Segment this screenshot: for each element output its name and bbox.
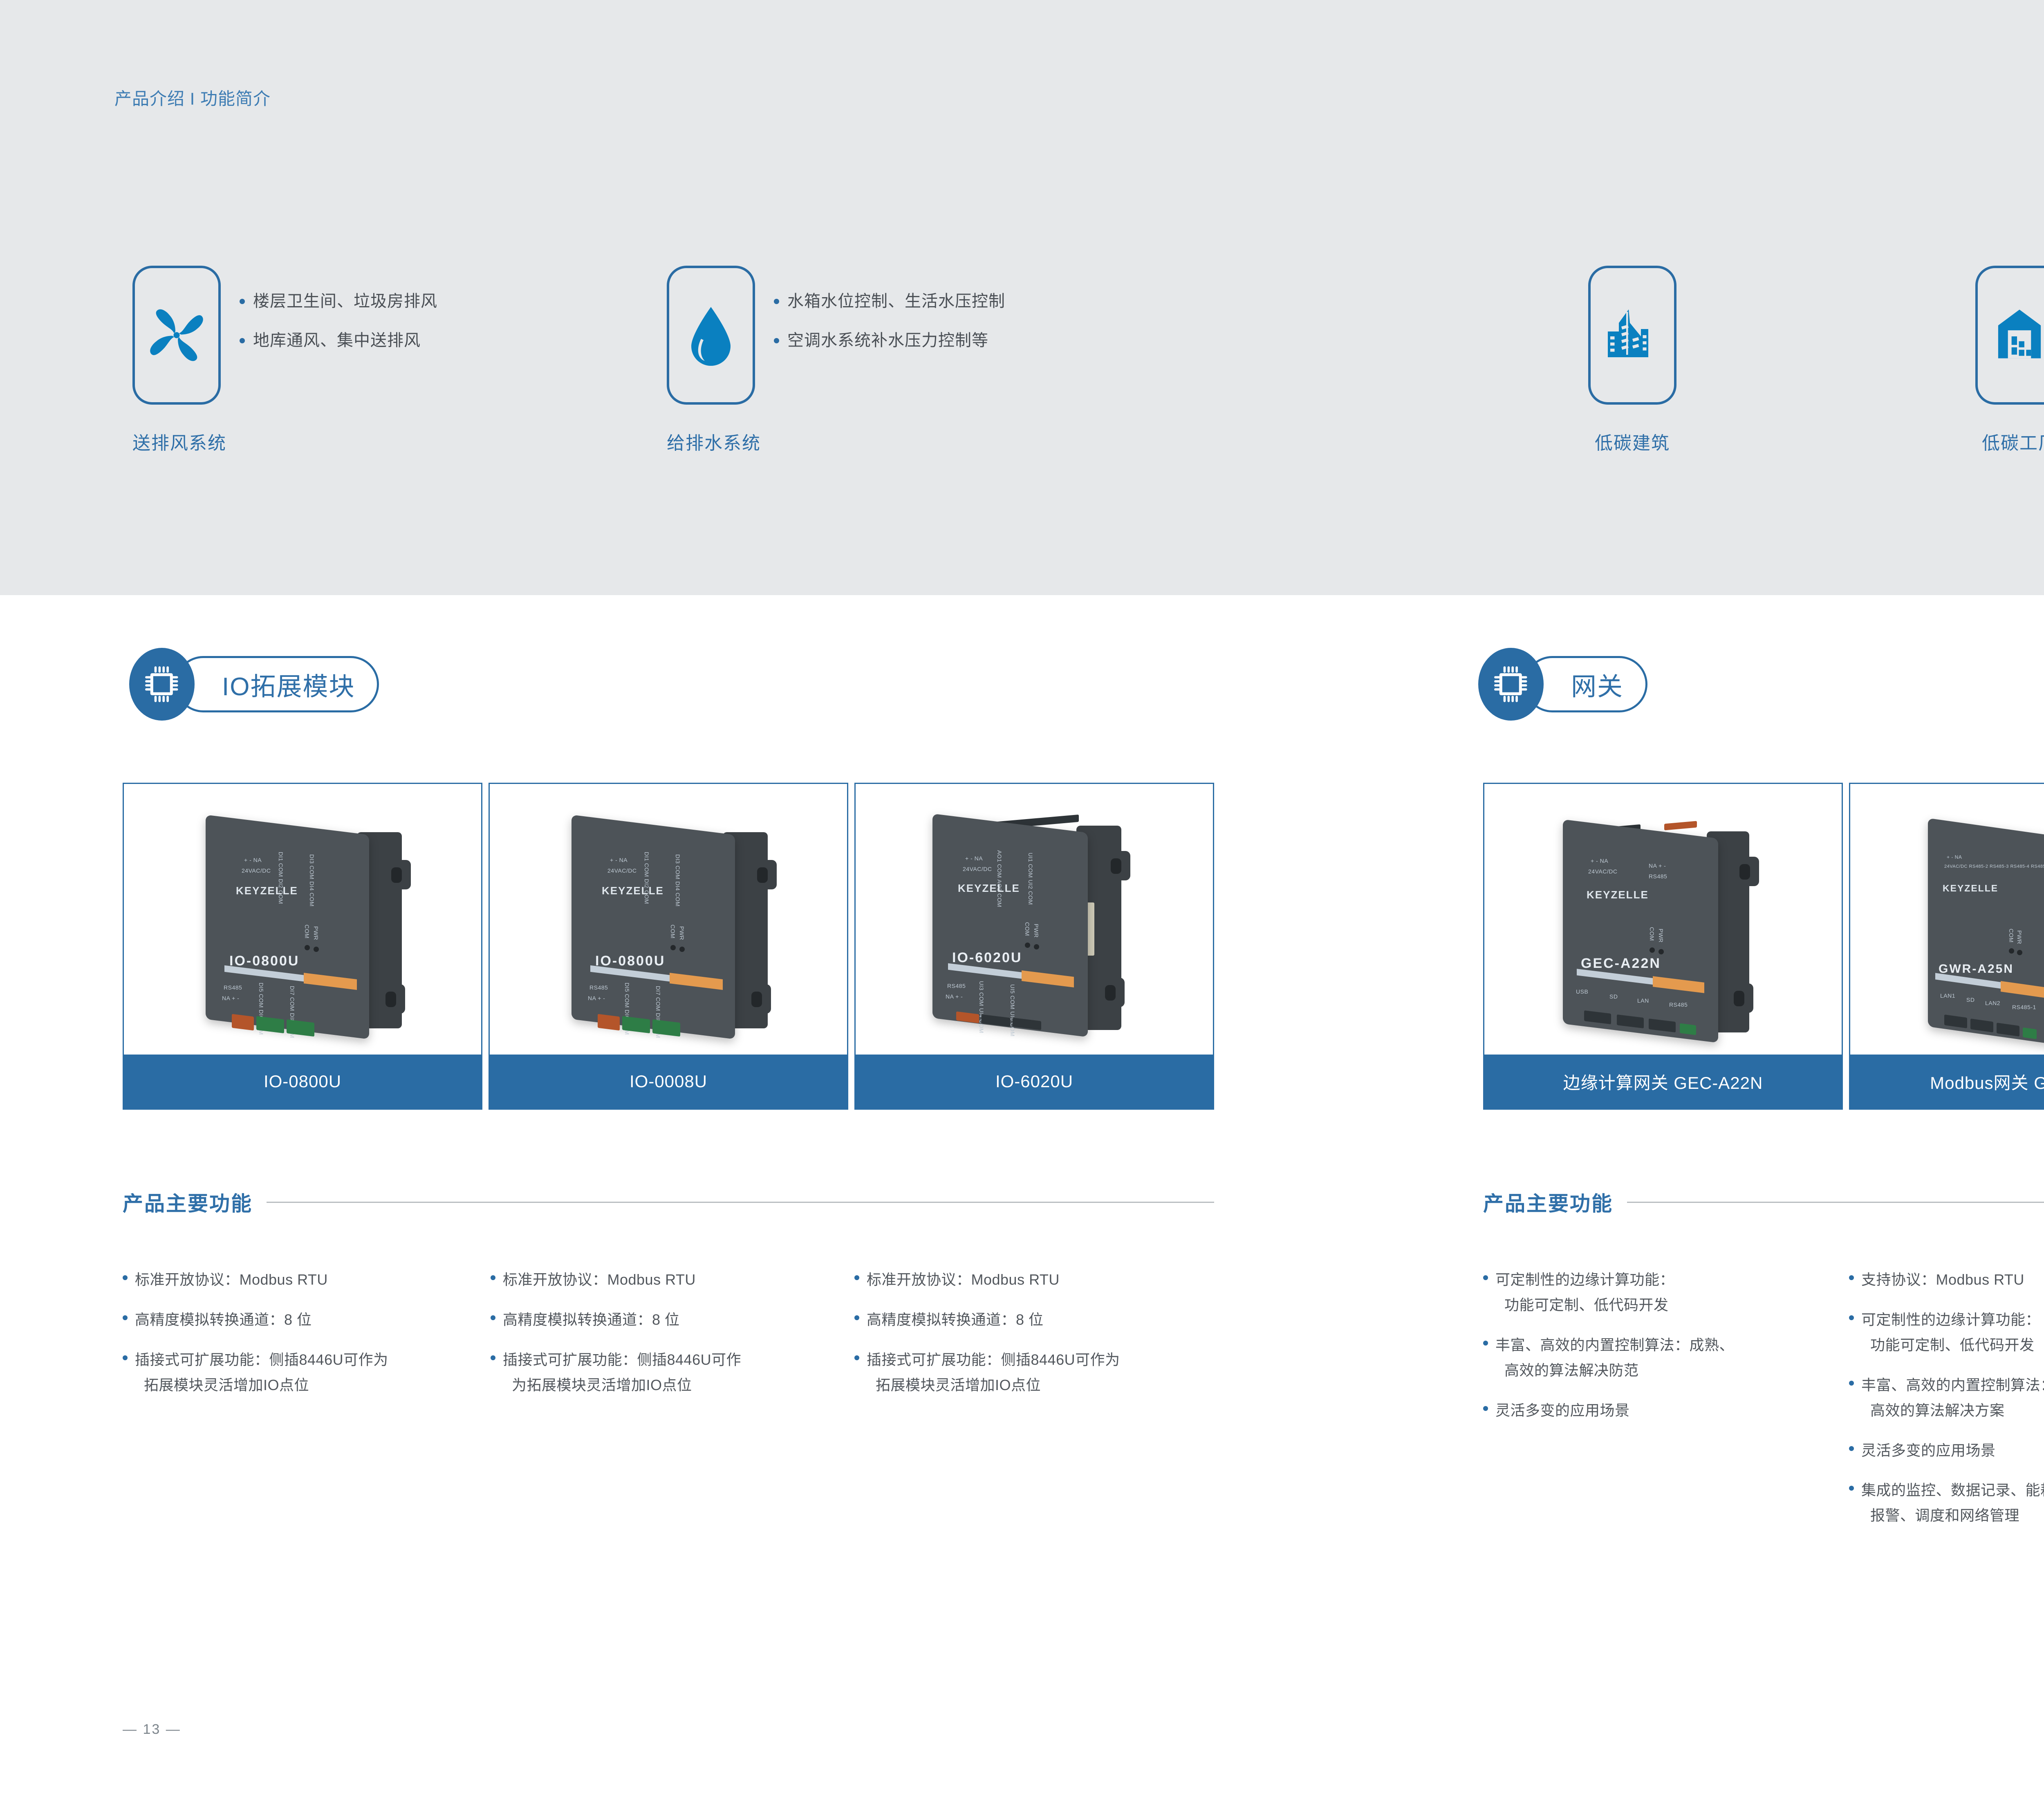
scene-caption: 低碳工厂	[1975, 428, 2044, 455]
bullet-dot-icon	[1849, 1315, 1854, 1320]
feature-item: 可定制性的边缘计算功能：功能可定制、低代码开发	[1483, 1267, 1843, 1318]
bullet-dot-icon	[854, 1315, 859, 1320]
feature-text: 丰富、高效的内置控制算法：成熟、高效的算法解决防范	[1495, 1332, 1734, 1383]
port-label: RS485-1	[2012, 1004, 2036, 1010]
feature-text: 插接式可扩展功能：侧插8446U可作为拓展模块灵活增加IO点位	[135, 1347, 388, 1398]
chip-badge	[129, 648, 195, 721]
bullet-dot-icon	[1849, 1275, 1854, 1280]
port-label: 24VAC/DC	[242, 867, 271, 874]
features-column: 标准开放协议：Modbus RTU高精度模拟转换通道：8 位插接式可扩展功能：侧…	[491, 1267, 858, 1413]
feature-item: 高精度模拟转换通道：8 位	[491, 1307, 858, 1332]
feature-text: 高精度模拟转换通道：8 位	[503, 1307, 680, 1332]
port-label: RS485	[1649, 873, 1667, 880]
feature-text: 标准开放协议：Modbus RTU	[503, 1267, 696, 1292]
features-column: 可定制性的边缘计算功能：功能可定制、低代码开发丰富、高效的内置控制算法：成熟、高…	[1483, 1267, 1843, 1438]
port-label: RS485	[224, 984, 242, 991]
feature-text: 可定制性的边缘计算功能：功能可定制、低代码开发	[1861, 1307, 2040, 1358]
scene-caption: 低碳建筑	[1588, 428, 1676, 455]
factory-icon-frame	[1975, 266, 2044, 405]
feature-text: 标准开放协议：Modbus RTU	[867, 1267, 1060, 1292]
channel-label: DI1 COM DI2 COM	[643, 852, 650, 876]
channel-label: DI3 COM DI4 COM	[675, 854, 681, 879]
port-label: SD	[1966, 996, 1975, 1003]
feature-text: 插接式可扩展功能：侧插8446U可作为拓展模块灵活增加IO点位	[867, 1347, 1120, 1398]
feature-item: 标准开放协议：Modbus RTU	[123, 1267, 491, 1292]
port-label: LAN	[1637, 997, 1649, 1004]
feature-item: 插接式可扩展功能：侧插8446U可作为拓展模块灵活增加IO点位	[123, 1347, 491, 1398]
fan-icon	[146, 305, 207, 366]
features-header-left: 产品主要功能	[123, 1187, 1214, 1217]
product-name: IO-6020U	[995, 1072, 1073, 1091]
application-block-water: 给排水系统 水箱水位控制、生活水压控制 空调水系统补水压力控制等	[667, 266, 755, 405]
bullet-item: 空调水系统补水压力控制等	[774, 330, 1005, 351]
product-image: + - NA 24VAC/DC DI1 COM DI2 COM DI3 COM …	[490, 784, 847, 1055]
bullet-text: 楼层卫生间、垃圾房排风	[253, 291, 437, 311]
bullet-dot-icon	[1849, 1486, 1854, 1491]
feature-item: 插接式可扩展功能：侧插8446U可作为拓展模块灵活增加IO点位	[854, 1347, 1222, 1398]
product-name: 边缘计算网关 GEC-A22N	[1563, 1069, 1763, 1094]
feature-text: 支持协议：Modbus RTU	[1861, 1267, 2024, 1292]
feature-item: 高精度模拟转换通道：8 位	[854, 1307, 1222, 1332]
product-card[interactable]: + - NA 24VAC/DC DI1 COM DI2 COM DI3 COM …	[489, 783, 848, 1110]
feature-text: 高精度模拟转换通道：8 位	[867, 1307, 1044, 1332]
section-title-label: IO拓展模块	[222, 666, 355, 703]
feature-text: 丰富、高效的内置控制算法：成熟、高效的算法解决方案	[1861, 1373, 2044, 1423]
channel-label: DI7 COM DI8 COM	[289, 986, 296, 1010]
port-label: RS485	[589, 984, 608, 991]
feature-item: 支持协议：Modbus RTU	[1849, 1267, 2044, 1292]
led-label: PWR	[1033, 924, 1040, 942]
bullet-dot-icon	[1483, 1275, 1488, 1280]
led-label: PWR	[1658, 929, 1664, 947]
bullet-text: 空调水系统补水压力控制等	[787, 330, 988, 351]
product-image: + - NA 24VAC/DC AO1 COM AO2 COM UI1 COM …	[856, 784, 1213, 1055]
port-label: 24VAC/DC RS485-2 RS485-3 RS485-4 RS485-5	[1944, 864, 2044, 869]
feature-text: 高精度模拟转换通道：8 位	[135, 1307, 312, 1332]
section-pill-body: IO拓展模块	[175, 656, 379, 712]
product-name: IO-0800U	[264, 1072, 341, 1091]
features-column: 标准开放协议：Modbus RTU高精度模拟转换通道：8 位插接式可扩展功能：侧…	[123, 1267, 491, 1413]
channel-label: UI3 COM UI4 COM	[978, 981, 985, 1005]
feature-text: 插接式可扩展功能：侧插8446U可作为拓展模块灵活增加IO点位	[503, 1347, 741, 1398]
feature-text: 集成的监控、数据记录、能耗计量、报警、调度和网络管理	[1861, 1478, 2044, 1528]
chip-icon	[144, 665, 179, 704]
brand-label: KEYZELLE	[1587, 889, 1649, 901]
feature-item: 灵活多变的应用场景	[1849, 1438, 2044, 1463]
port-label: + - NA	[1591, 858, 1608, 864]
bullet-dot-icon	[491, 1355, 495, 1360]
feature-item: 丰富、高效的内置控制算法：成熟、高效的算法解决防范	[1483, 1332, 1843, 1383]
port-label: LAN2	[1985, 1000, 2000, 1006]
product-image: + - NA 24VAC/DC DI1 COM DI2 COM DI3 COM …	[124, 784, 481, 1055]
chip-badge	[1478, 648, 1544, 721]
ventilation-icon-frame	[132, 266, 221, 405]
port-label: LAN1	[1940, 992, 1955, 999]
bullet-text: 地库通风、集中送排风	[253, 330, 421, 351]
product-name: Modbus网关 GWR-A25N	[1930, 1069, 2044, 1094]
port-label: NA + -	[588, 995, 605, 1001]
led-label: PWR	[2016, 930, 2023, 947]
water-bullets: 水箱水位控制、生活水压控制 空调水系统补水压力控制等	[774, 291, 1005, 351]
brochure-spread: 产品介绍 I 功能简介 产品介绍 I 功能简介 送排风系统	[0, 0, 2044, 1798]
feature-item: 灵活多变的应用场景	[1483, 1398, 1843, 1423]
led-label: PWR	[679, 926, 685, 944]
port-label: 24VAC/DC	[1588, 868, 1617, 875]
port-label: + - NA	[1947, 854, 1962, 860]
product-label-bar: IO-0800U	[124, 1055, 481, 1108]
led-label: COM	[304, 925, 310, 943]
feature-text: 可定制性的边缘计算功能：功能可定制、低代码开发	[1495, 1267, 1674, 1318]
bullet-dot-icon	[1849, 1446, 1854, 1451]
features-rule	[267, 1202, 1214, 1203]
feature-item: 标准开放协议：Modbus RTU	[854, 1267, 1222, 1292]
features-title: 产品主要功能	[123, 1187, 253, 1217]
bullet-dot-icon	[123, 1355, 128, 1360]
brand-label: KEYZELLE	[1943, 883, 1998, 894]
bullet-dot-icon	[491, 1315, 495, 1320]
port-label: + - NA	[610, 857, 628, 863]
features-title: 产品主要功能	[1483, 1187, 1613, 1217]
bullet-dot-icon	[1483, 1341, 1488, 1346]
channel-label: DI1 COM DI2 COM	[278, 852, 284, 876]
model-label: IO-6020U	[952, 950, 1022, 966]
product-label-bar: IO-0008U	[490, 1055, 847, 1108]
ventilation-bullets: 楼层卫生间、垃圾房排风 地库通风、集中送排风	[240, 291, 437, 351]
channel-label: DI5 COM DI6 COM	[624, 983, 630, 1007]
brand-label: KEYZELLE	[958, 882, 1020, 895]
port-label: NA + -	[946, 993, 963, 1000]
port-label: + - NA	[965, 855, 983, 862]
page-number-left: — 13 —	[123, 1722, 181, 1738]
feature-item: 插接式可扩展功能：侧插8446U可作为拓展模块灵活增加IO点位	[491, 1347, 858, 1398]
product-label-bar: Modbus网关 GWR-A25N	[1850, 1055, 2044, 1108]
feature-text: 标准开放协议：Modbus RTU	[135, 1267, 328, 1292]
application-caption: 给排水系统	[667, 428, 761, 455]
channel-label: UI5 COM UI6 COM	[1009, 984, 1016, 1009]
port-label: + - NA	[244, 857, 262, 863]
scene-block-building: 低碳建筑	[1588, 266, 1676, 405]
bullet-item: 地库通风、集中送排风	[240, 330, 437, 351]
running-head-left: 产品介绍 I 功能简介	[114, 85, 271, 110]
bullet-dot-icon	[854, 1275, 859, 1280]
port-label: USB	[1576, 988, 1588, 995]
feature-text: 灵活多变的应用场景	[1495, 1398, 1630, 1423]
feature-item: 高精度模拟转换通道：8 位	[123, 1307, 491, 1332]
bullet-dot-icon	[491, 1275, 495, 1280]
model-label: IO-0800U	[229, 953, 299, 969]
port-label: NA + -	[222, 995, 239, 1001]
features-header-right: 产品主要功能	[1483, 1187, 2044, 1217]
product-image: + - NA 24VAC/DC RS485-2 RS485-3 RS485-4 …	[1850, 784, 2044, 1055]
scene-block-factory: 低碳工厂	[1975, 266, 2044, 405]
channel-label: DI7 COM DI8 COM	[655, 986, 661, 1010]
application-caption: 送排风系统	[132, 428, 226, 455]
product-label-bar: IO-6020U	[856, 1055, 1213, 1108]
feature-text: 灵活多变的应用场景	[1861, 1438, 1996, 1463]
product-card[interactable]: + - NA 24VAC/DC AO1 COM AO2 COM UI1 COM …	[854, 783, 1214, 1110]
factory-icon	[1992, 305, 2044, 366]
channel-label: AO1 COM AO2 COM	[996, 850, 1003, 875]
application-row: 送排风系统 楼层卫生间、垃圾房排风 地库通风、集中送排风 给排水	[0, 245, 2044, 507]
channel-label: DI5 COM DI6 COM	[258, 983, 264, 1007]
bullet-dot-icon	[123, 1315, 128, 1320]
led-label: COM	[2008, 929, 2015, 946]
channel-label: UI1 COM UI2 COM	[1027, 853, 1034, 877]
feature-item: 标准开放协议：Modbus RTU	[491, 1267, 858, 1292]
section-title-label: 网关	[1571, 666, 1623, 703]
brand-label: KEYZELLE	[602, 884, 664, 897]
features-rule	[1627, 1202, 2044, 1203]
bullet-dot-icon	[1849, 1381, 1854, 1386]
building-icon-frame	[1588, 266, 1676, 405]
bullet-dot-icon	[123, 1275, 128, 1280]
application-block-ventilation: 送排风系统 楼层卫生间、垃圾房排风 地库通风、集中送排风	[132, 266, 221, 405]
bullet-dot-icon	[240, 338, 245, 343]
bullet-text: 水箱水位控制、生活水压控制	[787, 291, 1005, 311]
product-card[interactable]: + - NA 24VAC/DC DI1 COM DI2 COM DI3 COM …	[123, 783, 482, 1110]
bullet-dot-icon	[774, 299, 779, 304]
water-drop-icon	[682, 305, 740, 366]
model-label: GWR-A25N	[1939, 962, 2014, 976]
port-label: RS485	[1669, 1001, 1688, 1008]
model-label: IO-0800U	[595, 953, 665, 969]
port-label: 24VAC/DC	[607, 867, 637, 874]
port-label: RS485	[947, 983, 966, 989]
bullet-dot-icon	[854, 1355, 859, 1360]
feature-item: 可定制性的边缘计算功能：功能可定制、低代码开发	[1849, 1307, 2044, 1358]
feature-item: 丰富、高效的内置控制算法：成熟、高效的算法解决方案	[1849, 1373, 2044, 1423]
feature-item: 集成的监控、数据记录、能耗计量、报警、调度和网络管理	[1849, 1478, 2044, 1528]
bullet-dot-icon	[240, 299, 245, 304]
led-label: COM	[1024, 922, 1031, 940]
bullet-dot-icon	[774, 338, 779, 343]
features-column: 支持协议：Modbus RTU可定制性的边缘计算功能：功能可定制、低代码开发丰富…	[1849, 1267, 2044, 1543]
port-label: NA + -	[1649, 862, 1666, 869]
bullet-item: 楼层卫生间、垃圾房排风	[240, 291, 437, 311]
bullet-dot-icon	[1483, 1406, 1488, 1411]
channel-label: DI3 COM DI4 COM	[309, 854, 315, 879]
brand-label: KEYZELLE	[236, 884, 298, 897]
led-label: COM	[670, 925, 676, 943]
product-label-bar: 边缘计算网关 GEC-A22N	[1484, 1055, 1842, 1108]
features-column: 标准开放协议：Modbus RTU高精度模拟转换通道：8 位插接式可扩展功能：侧…	[854, 1267, 1222, 1413]
product-image: + - NA 24VAC/DC NA + - RS485 KEYZELLE GE…	[1484, 784, 1842, 1055]
model-label: GEC-A22N	[1581, 956, 1661, 972]
port-label: SD	[1609, 993, 1618, 1000]
chip-icon	[1493, 665, 1529, 704]
product-card[interactable]: + - NA 24VAC/DC RS485-2 RS485-3 RS485-4 …	[1849, 783, 2044, 1110]
office-building-icon	[1605, 305, 1659, 366]
led-label: COM	[1649, 927, 1655, 945]
product-name: IO-0008U	[630, 1072, 707, 1091]
led-label: PWR	[313, 926, 319, 944]
water-icon-frame	[667, 266, 755, 405]
product-card[interactable]: + - NA 24VAC/DC NA + - RS485 KEYZELLE GE…	[1483, 783, 1843, 1110]
bullet-item: 水箱水位控制、生活水压控制	[774, 291, 1005, 311]
port-label: 24VAC/DC	[963, 866, 992, 872]
